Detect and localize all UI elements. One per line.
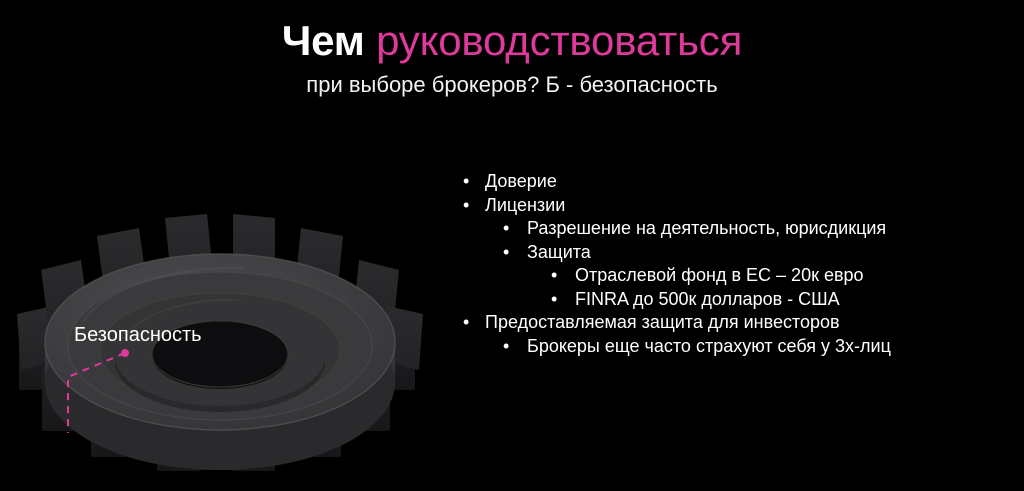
- bullet-marker-icon: •: [463, 194, 485, 218]
- gear-illustration-block: Безопасность: [0, 150, 440, 480]
- title-white-part: Чем: [282, 17, 376, 64]
- page-title: Чем руководствоваться: [0, 17, 1024, 65]
- bullet-marker-icon: •: [551, 288, 575, 312]
- list-item-label: FINRA до 500к долларов - США: [575, 288, 840, 312]
- list-item: • Лицензии: [455, 194, 1015, 218]
- list-item: • Защита: [455, 241, 1015, 265]
- list-item-label: Разрешение на деятельность, юрисдикция: [527, 217, 886, 241]
- list-item: • Разрешение на деятельность, юрисдикция: [455, 217, 1015, 241]
- slide-root: Чем руководствоваться при выборе брокеро…: [0, 0, 1024, 491]
- callout-endpoint-dot: [121, 349, 129, 357]
- list-item-label: Лицензии: [485, 194, 565, 218]
- list-item: • Брокеры еще часто страхуют себя у 3х-л…: [455, 335, 1015, 359]
- bullet-list: • Доверие • Лицензии • Разрешение на дея…: [455, 170, 1015, 358]
- list-item-label: Брокеры еще часто страхуют себя у 3х-лиц: [527, 335, 891, 359]
- list-item-label: Предоставляемая защита для инвесторов: [485, 311, 840, 335]
- list-item-label: Доверие: [485, 170, 557, 194]
- bullet-marker-icon: •: [503, 335, 527, 359]
- bullet-marker-icon: •: [503, 241, 527, 265]
- list-item: • Отраслевой фонд в ЕС – 20к евро: [455, 264, 1015, 288]
- list-item: • Доверие: [455, 170, 1015, 194]
- list-item: • Предоставляемая защита для инвесторов: [455, 311, 1015, 335]
- bullet-marker-icon: •: [551, 264, 575, 288]
- title-accent-part: руководствоваться: [376, 17, 742, 64]
- list-item: • FINRA до 500к долларов - США: [455, 288, 1015, 312]
- bullet-marker-icon: •: [463, 311, 485, 335]
- bullet-marker-icon: •: [503, 217, 527, 241]
- callout-leader-line: [55, 343, 165, 448]
- bullet-marker-icon: •: [463, 170, 485, 194]
- list-item-label: Защита: [527, 241, 591, 265]
- page-subtitle: при выборе брокеров? Б - безопасность: [0, 70, 1024, 100]
- list-item-label: Отраслевой фонд в ЕС – 20к евро: [575, 264, 864, 288]
